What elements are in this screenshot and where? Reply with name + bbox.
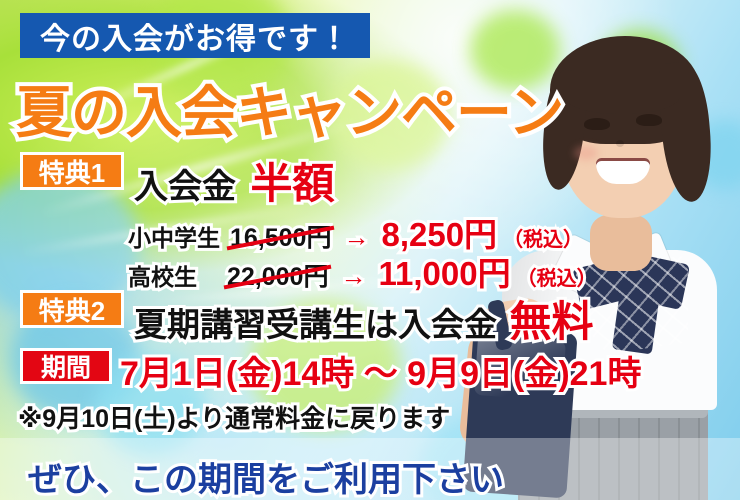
benefit1-badge-label: 特典1 xyxy=(39,153,105,190)
benefit1-value: 半額 xyxy=(250,160,334,207)
nose xyxy=(616,140,624,147)
campaign-banner: 今の入会がお得です！ 夏の入会キャンペーン 特典1 入会金 半額 小中学生 16… xyxy=(0,0,740,500)
benefit2-value: 無料 xyxy=(509,298,593,345)
period-badge-label: 期間 xyxy=(41,348,91,384)
page-title: 夏の入会キャンペーン xyxy=(16,68,563,149)
benefit1-heading: 入会金 半額 xyxy=(134,150,334,211)
period-text: 7月1日(金)14時 ～ 9月9日(金)21時 xyxy=(120,346,641,395)
benefit2-badge: 特典2 xyxy=(20,290,124,328)
neck xyxy=(590,215,652,271)
price-tax-note: （税込） xyxy=(517,262,597,291)
benefit2-heading: 夏期講習受講生は入会金 無料 xyxy=(134,288,593,349)
cheek xyxy=(574,146,598,160)
benefit1-keyword: 入会金 xyxy=(134,168,236,206)
benefit1-badge: 特典1 xyxy=(20,152,124,190)
benefit2-badge-label: 特典2 xyxy=(39,291,105,328)
price-label: 高校生 xyxy=(128,258,197,292)
footer-text: ぜひ、この期間をご利用下さい xyxy=(28,452,504,500)
eye-left xyxy=(584,118,610,130)
header-banner: 今の入会がお得です！ xyxy=(20,13,370,58)
eye-right xyxy=(636,114,662,126)
header-text: 今の入会がお得です！ xyxy=(40,14,350,58)
period-badge: 期間 xyxy=(20,348,112,384)
note-text: ※9月10日(土)より通常料金に戻ります xyxy=(18,399,450,435)
benefit2-keyword: 夏期講習受講生は入会金 xyxy=(134,306,497,343)
hair-bangs xyxy=(564,74,680,114)
